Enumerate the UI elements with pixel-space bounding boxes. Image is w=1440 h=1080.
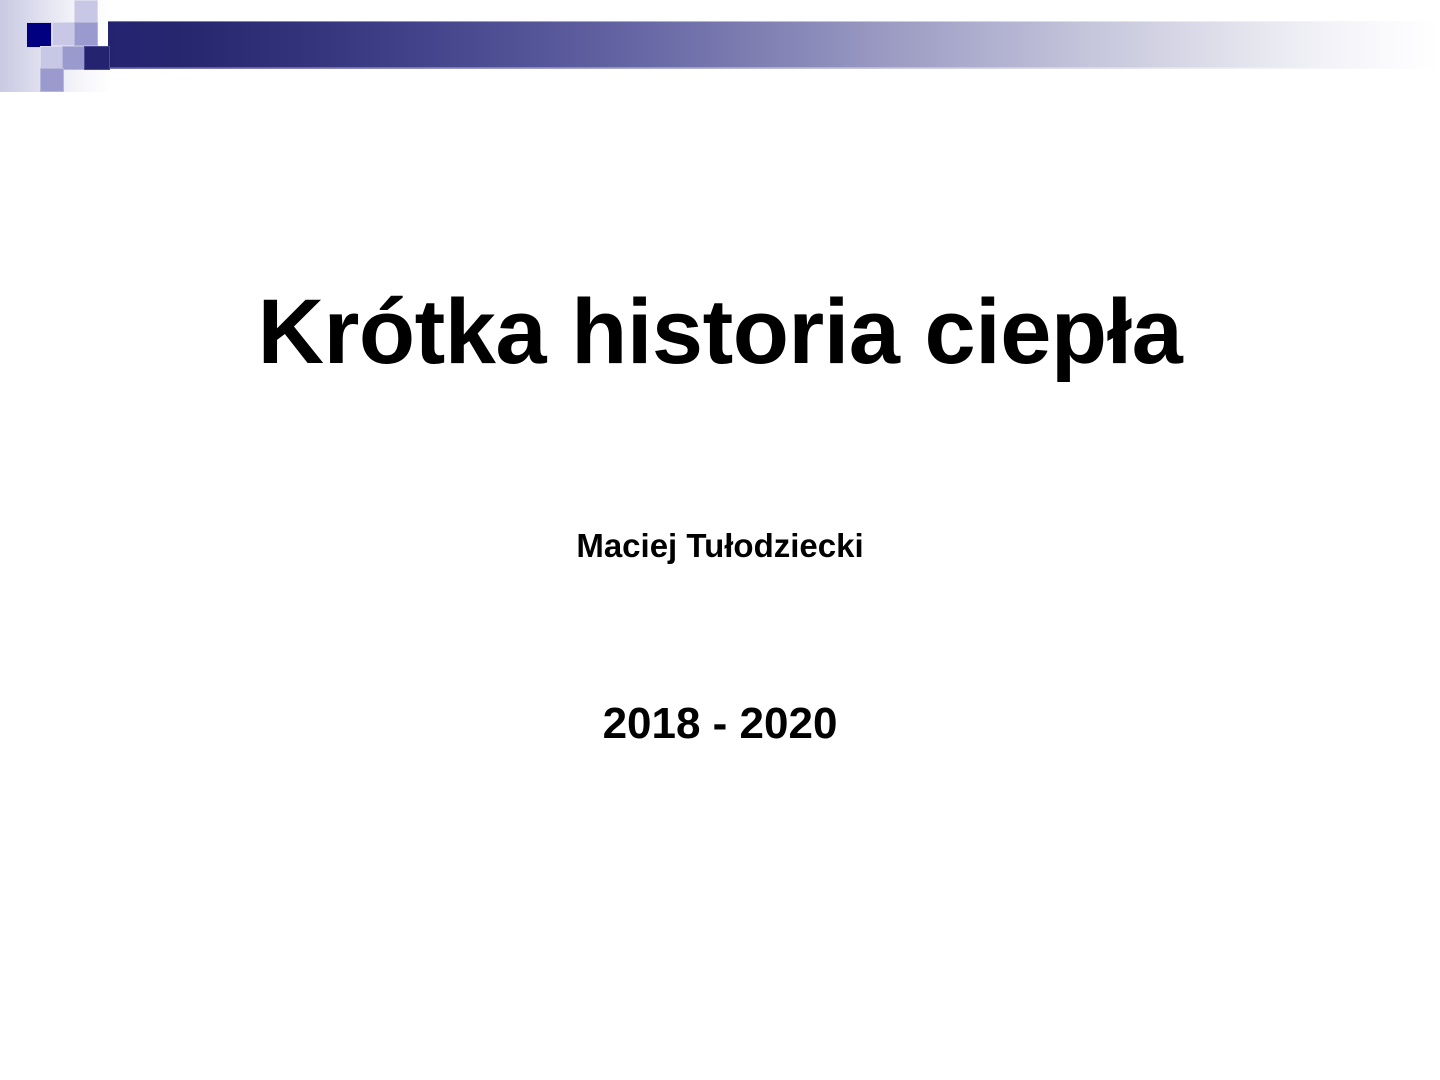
- tile-purple-bottom: [40, 68, 64, 92]
- band-top-edge: [108, 21, 1440, 23]
- header-decoration: [0, 0, 1440, 110]
- tile-lavender-mid-left: [52, 22, 76, 46]
- band-bottom-edge: [108, 67, 1440, 69]
- tile-purple-mid: [74, 22, 98, 46]
- slide-title: Krótka historia ciepła: [0, 284, 1440, 381]
- tile-purple-row2: [62, 46, 86, 70]
- tile-navy-dark: [26, 22, 52, 48]
- slide-author: Maciej Tułodziecki: [0, 526, 1440, 566]
- slide-years: 2018 - 2020: [0, 698, 1440, 751]
- tile-lavender-row2-left: [40, 46, 64, 70]
- tile-band-dark-row2: [84, 46, 110, 70]
- header-gradient-band: [108, 22, 1440, 68]
- tile-lavender-top: [74, 0, 98, 24]
- slide-canvas: Krótka historia ciepła Maciej Tułodzieck…: [0, 0, 1440, 1080]
- left-fade-strip: [0, 0, 112, 92]
